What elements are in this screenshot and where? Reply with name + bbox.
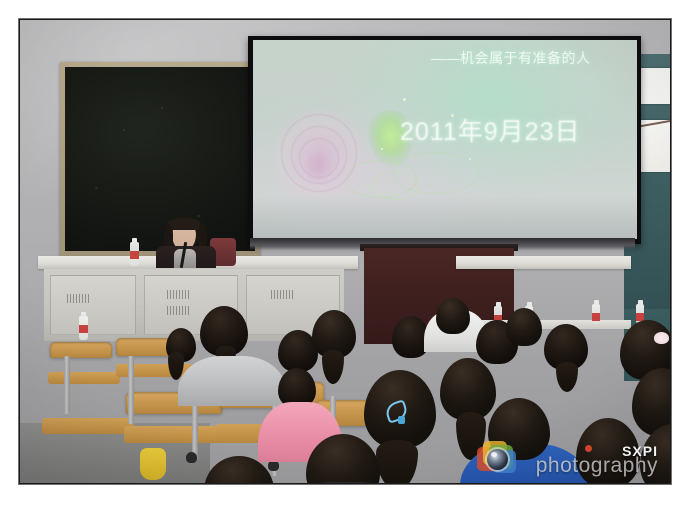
chair-leg-cap <box>186 452 197 463</box>
chair-writing-tablet <box>48 372 120 384</box>
audience-gray-hoodie <box>178 356 286 406</box>
photo-border: ——机会属于有准备的人 2011年9月23日 <box>18 18 672 485</box>
bottle-label <box>592 313 600 321</box>
audience-head <box>436 298 470 334</box>
rose-center <box>301 152 335 182</box>
chair-leg <box>128 356 134 424</box>
photo-mat: ——机会属于有准备的人 2011年9月23日 <box>0 0 692 505</box>
white-hair-bow-icon <box>654 332 669 344</box>
chair-leg <box>64 356 70 414</box>
front-desk-top-right <box>456 256 631 269</box>
projection-screen-housing: ——机会属于有准备的人 2011年9月23日 <box>248 36 641 244</box>
blue-hair-bow-knot <box>398 416 405 424</box>
photograph: ——机会属于有准备的人 2011年9月23日 <box>20 20 670 483</box>
audience-head <box>506 308 542 346</box>
audience-head <box>440 358 496 420</box>
water-bottle <box>592 304 600 324</box>
bottle-label <box>79 325 88 333</box>
water-bottle <box>79 316 88 340</box>
slide-date-text: 2011年9月23日 <box>400 112 580 148</box>
yellow-bag <box>140 448 166 480</box>
audience-head-front <box>488 398 550 460</box>
chair-writing-tablet <box>42 418 134 434</box>
bottle-label <box>130 251 139 259</box>
cabinet-panel <box>50 275 136 335</box>
slide-title-text: ——机会属于有准备的人 <box>431 48 631 68</box>
water-bottle <box>130 242 139 266</box>
chair-back <box>50 342 112 358</box>
projection-screen: ——机会属于有准备的人 2011年9月23日 <box>253 40 637 239</box>
audience-ponytail <box>376 440 418 483</box>
projected-slide: ——机会属于有准备的人 2011年9月23日 <box>253 40 637 239</box>
slide-lower-band <box>253 195 637 239</box>
